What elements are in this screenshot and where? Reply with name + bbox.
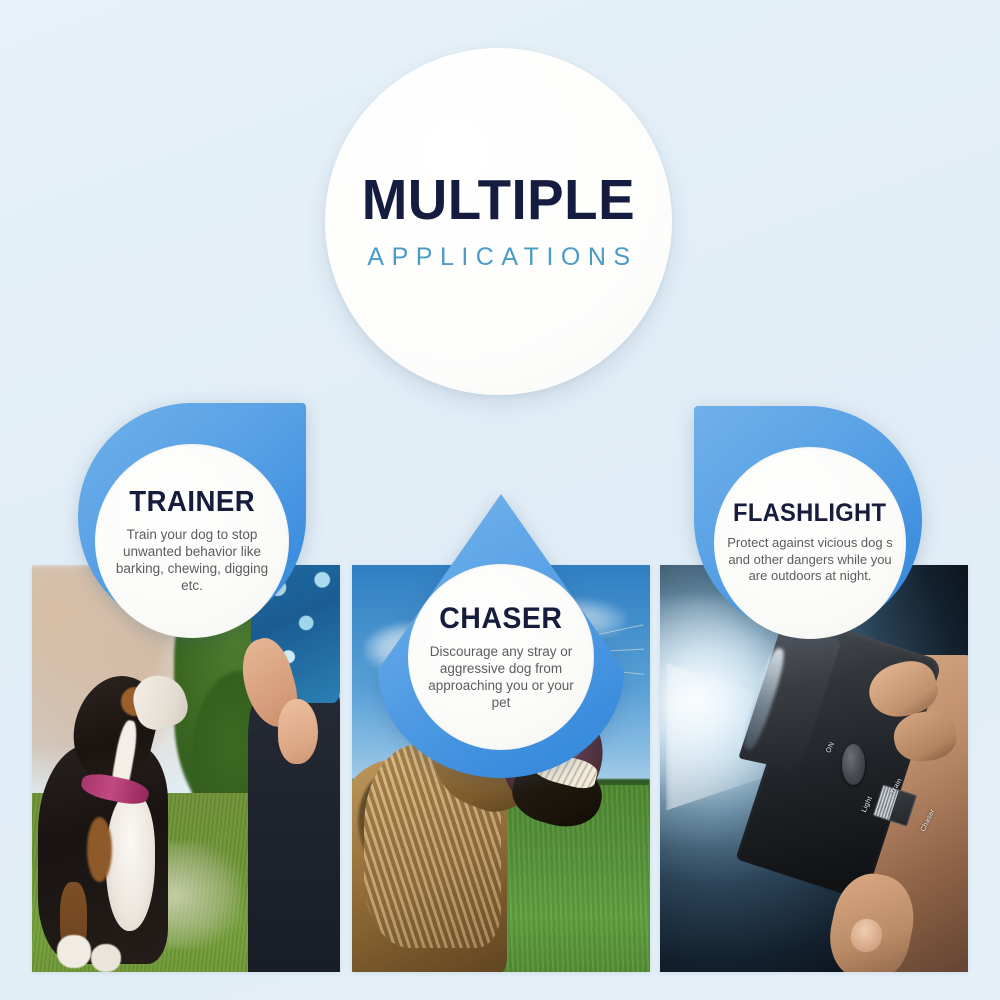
feature-callout-chaser: CHASER Discourage any stray or aggressiv… bbox=[378, 494, 624, 778]
feature-description-chaser: Discourage any stray or aggressive dog f… bbox=[421, 643, 581, 711]
feature-callout-flashlight: FLASHLIGHT Protect against vicious dog s… bbox=[694, 406, 922, 634]
feature-description-trainer: Train your dog to stop unwanted behavior… bbox=[109, 526, 275, 594]
feature-callout-trainer: TRAINER Train your dog to stop unwanted … bbox=[78, 403, 306, 631]
hero-title-circle: MULTIPLE APPLICATIONS bbox=[325, 48, 672, 395]
power-button[interactable] bbox=[842, 744, 865, 785]
droplet-content: FLASHLIGHT Protect against vicious dog s… bbox=[714, 447, 906, 639]
page-subtitle: APPLICATIONS bbox=[367, 243, 637, 272]
feature-title-trainer: TRAINER bbox=[129, 488, 255, 517]
feature-title-flashlight: FLASHLIGHT bbox=[733, 501, 886, 526]
feature-title-chaser: CHASER bbox=[439, 604, 562, 634]
page-title: MULTIPLE bbox=[362, 172, 635, 229]
infographic-canvas: MULTIPLE APPLICATIONS bbox=[0, 0, 1000, 1000]
puppy-paw-left bbox=[57, 935, 91, 968]
puppy-chest-marking bbox=[106, 793, 155, 931]
puppy-paw-right bbox=[91, 944, 122, 972]
feature-description-flashlight: Protect against vicious dog s and other … bbox=[724, 535, 896, 584]
droplet-content: CHASER Discourage any stray or aggressiv… bbox=[408, 564, 594, 750]
droplet-content: TRAINER Train your dog to stop unwanted … bbox=[95, 444, 289, 638]
